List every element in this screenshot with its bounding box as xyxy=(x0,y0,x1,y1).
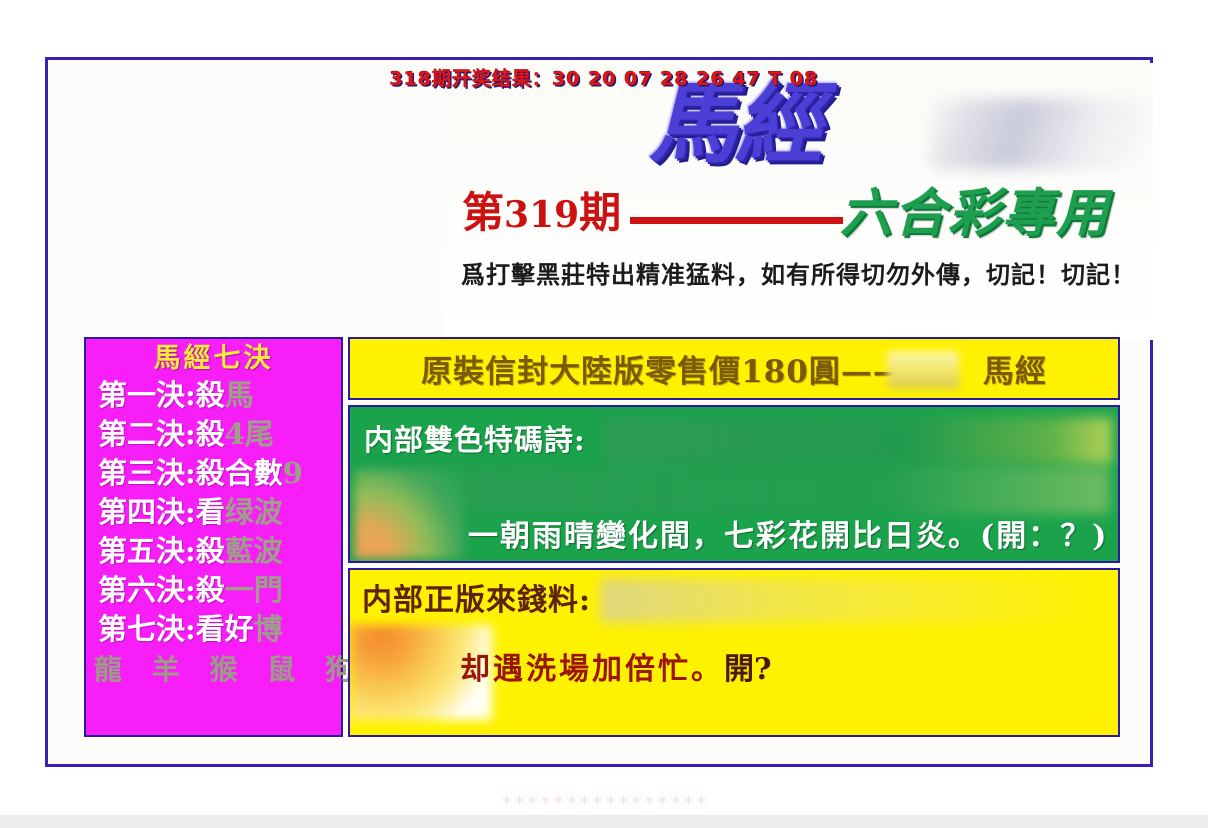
double-color-poem-panel: 内部雙色特碼詩: 一朝雨晴變化間，七彩花開比日炎。(開：？) xyxy=(348,405,1120,563)
money-open-marker: 開? xyxy=(724,652,772,687)
issue-divider-rule xyxy=(630,217,843,224)
zodiac-list: 龍 羊 猴 鼠 狗 xyxy=(86,652,341,688)
rule-item: 第四決:看绿波 xyxy=(86,493,341,532)
poem-censor-blur-top xyxy=(604,417,1112,464)
money-text: 却遇洗場加倍忙。開? xyxy=(460,652,772,688)
bottom-faint-text: ＊＊＊＊＊＊＊＊＊＊＊＊＊＊＊＊ xyxy=(0,790,1208,816)
rule-label: 第三決:殺合數 xyxy=(98,456,283,490)
rule-item: 第六決:殺一門 xyxy=(86,571,341,610)
poster-body: 馬經七決 第一決:殺馬 第二決:殺4尾 第三決:殺合數9 第四決:看绿波 第五決… xyxy=(84,337,1120,737)
price-brand: 馬經 xyxy=(983,354,1047,390)
money-text-main: 却遇洗場加倍忙。 xyxy=(460,652,724,687)
money-material-panel: 内部正版來錢料: 却遇洗場加倍忙。開? xyxy=(348,568,1120,737)
rule-value: 4尾 xyxy=(225,417,274,451)
poster-header: 馬經 第319期 六合彩專用 爲打擊黑莊特出精准猛料，如有所得切勿外傳，切記！切… xyxy=(51,63,1153,340)
issue-number: 319 xyxy=(504,194,579,236)
price-banner: 原裝信封大陸版零售價180圓——馬經 xyxy=(348,337,1120,400)
poem-censor-blur-mid xyxy=(358,467,1110,514)
rule-item: 第二決:殺4尾 xyxy=(86,415,341,454)
subtitle-lottery-type: 六合彩專用 xyxy=(840,183,1110,245)
issue-suffix: 期 xyxy=(579,188,621,237)
warning-notice: 爲打擊黑莊特出精准猛料，如有所得切勿外傳，切記！切記！ xyxy=(444,255,1153,290)
rule-item: 第五決:殺藍波 xyxy=(86,532,341,571)
rule-value: 一門 xyxy=(225,573,283,607)
seven-rules-panel: 馬經七決 第一決:殺馬 第二決:殺4尾 第三決:殺合數9 第四決:看绿波 第五決… xyxy=(84,337,343,737)
bottom-band xyxy=(0,815,1208,828)
lottery-result-ticker: 318期开奖结果：30 20 07 28 26 47 T 08 xyxy=(0,64,1208,91)
rule-value: 博 xyxy=(254,612,283,646)
rule-item: 第三決:殺合數9 xyxy=(86,454,341,493)
right-panels: 原裝信封大陸版零售價180圓——馬經 内部雙色特碼詩: 一朝雨晴變化間，七彩花開… xyxy=(348,337,1120,737)
rule-label: 第六決:殺 xyxy=(98,573,225,607)
money-censor-blur-top xyxy=(600,578,1112,623)
rule-value: 馬 xyxy=(225,378,254,412)
poem-censor-blob xyxy=(354,469,464,559)
seven-rules-title: 馬經七決 xyxy=(86,342,341,376)
rule-label: 第七決:看好 xyxy=(98,612,254,646)
rule-item: 第一決:殺馬 xyxy=(86,376,341,415)
rule-label: 第四決:看 xyxy=(98,495,225,529)
poem-panel-label: 内部雙色特碼詩: xyxy=(364,423,586,457)
rule-label: 第二決:殺 xyxy=(98,417,225,451)
rule-value: 9 xyxy=(283,456,303,490)
logo-censor-blur xyxy=(929,99,1149,169)
rule-value: 绿波 xyxy=(225,495,283,529)
issue-row: 第319期 六合彩專用 xyxy=(462,183,1152,251)
rule-label: 第五決:殺 xyxy=(98,534,225,568)
rule-value: 藍波 xyxy=(225,534,283,568)
price-censor-blur xyxy=(887,351,959,389)
rule-item: 第七決:看好博 xyxy=(86,610,341,649)
issue-label: 第319期 xyxy=(462,187,621,241)
money-panel-label: 内部正版來錢料: xyxy=(362,583,591,618)
poem-text: 一朝雨晴變化間，七彩花開比日炎。(開：？) xyxy=(468,519,1108,555)
header-right-block: 馬經 第319期 六合彩專用 爲打擊黑莊特出精准猛料，如有所得切勿外傳，切記！切… xyxy=(444,63,1153,340)
price-text-main: 原裝信封大陸版零售價180圓—— xyxy=(421,354,905,390)
poster-frame: 馬經 第319期 六合彩專用 爲打擊黑莊特出精准猛料，如有所得切勿外傳，切記！切… xyxy=(45,57,1153,767)
rule-label: 第一決:殺 xyxy=(98,378,225,412)
issue-prefix: 第 xyxy=(462,188,504,237)
